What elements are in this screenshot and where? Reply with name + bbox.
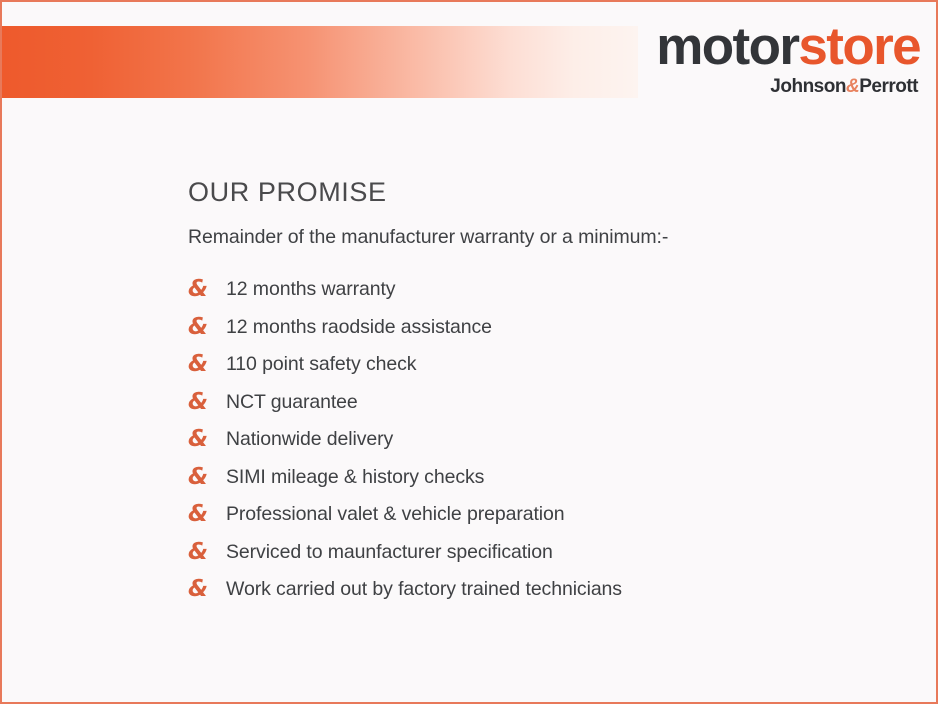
ampersand-bullet-icon: & [188, 466, 226, 489]
list-item-label: NCT guarantee [226, 391, 358, 414]
list-item-label: Professional valet & vehicle preparation [226, 503, 565, 526]
ampersand-bullet-icon: & [188, 391, 226, 414]
ampersand-bullet-icon: & [188, 353, 226, 376]
logo-wordmark: motorstore [656, 20, 920, 73]
logo-word-store: store [798, 17, 920, 76]
logo-sub-perrott: Perrott [859, 76, 918, 97]
list-item: & 110 point safety check [188, 346, 908, 384]
list-item: & Nationwide delivery [188, 421, 908, 459]
logo-subtitle: Johnson&Perrott [656, 77, 918, 96]
ampersand-bullet-icon: & [188, 428, 226, 451]
header-gradient-bar [2, 26, 638, 98]
list-item-label: 110 point safety check [226, 353, 416, 376]
list-item-label: SIMI mileage & history checks [226, 466, 484, 489]
page-title: OUR PROMISE [188, 178, 908, 208]
logo-word-motor: motor [656, 17, 798, 76]
ampersand-bullet-icon: & [188, 578, 226, 601]
list-item: & 12 months raodside assistance [188, 309, 908, 347]
promise-subtitle: Remainder of the manufacturer warranty o… [188, 226, 908, 249]
list-item: & Work carried out by factory trained te… [188, 571, 908, 609]
list-item-label: 12 months warranty [226, 278, 395, 301]
list-item: & 12 months warranty [188, 271, 908, 309]
list-item-label: Work carried out by factory trained tech… [226, 578, 622, 601]
promise-list: & 12 months warranty & 12 months raodsid… [188, 271, 908, 609]
logo-sub-johnson: Johnson [770, 76, 846, 97]
list-item-label: Nationwide delivery [226, 428, 393, 451]
list-item: & SIMI mileage & history checks [188, 459, 908, 497]
ampersand-bullet-icon: & [188, 278, 226, 301]
list-item-label: 12 months raodside assistance [226, 316, 492, 339]
ampersand-icon: & [846, 76, 859, 97]
ampersand-bullet-icon: & [188, 503, 226, 526]
motorstore-logo: motorstore Johnson&Perrott [656, 20, 920, 96]
list-item-label: Serviced to maunfacturer specification [226, 541, 553, 564]
list-item: & Professional valet & vehicle preparati… [188, 496, 908, 534]
list-item: & Serviced to maunfacturer specification [188, 534, 908, 572]
ampersand-bullet-icon: & [188, 541, 226, 564]
promise-content: OUR PROMISE Remainder of the manufacture… [188, 178, 908, 609]
ampersand-bullet-icon: & [188, 316, 226, 339]
promise-slide: motorstore Johnson&Perrott OUR PROMISE R… [0, 0, 938, 704]
list-item: & NCT guarantee [188, 384, 908, 422]
